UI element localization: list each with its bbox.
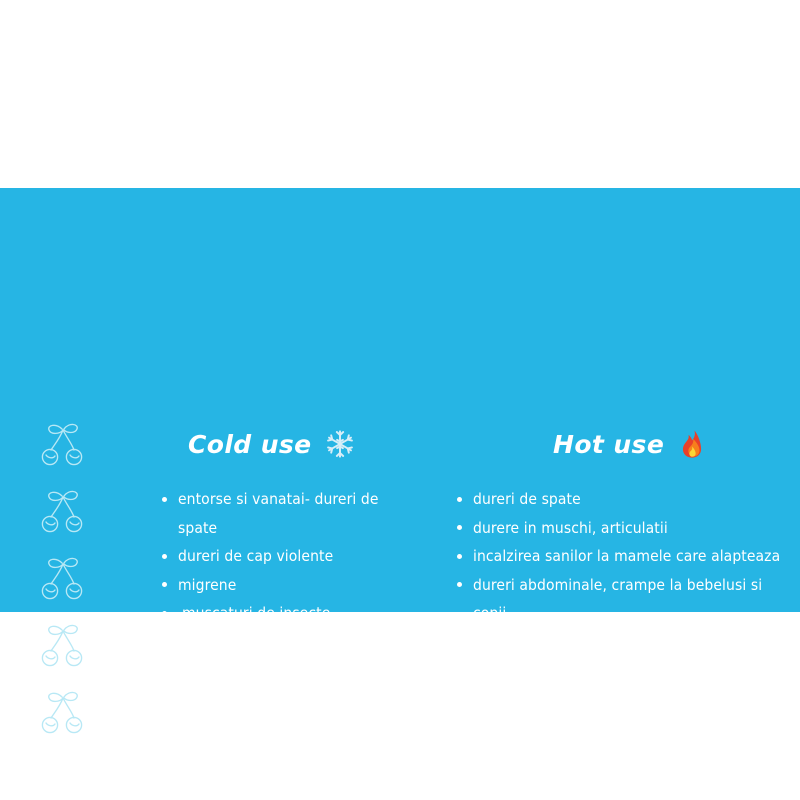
list-item-text: dureri abdominale, crampe la bebelusi si… [473,576,762,623]
list-item: entorse si vanatai- dureri de spate [160,485,420,542]
hot-use-list: dureri de spate durere in muschi, articu… [455,485,785,713]
list-item-text: durere in muschi, articulatii [473,519,668,537]
list-item-text: imbunatateste circulatia sangelui si are… [473,661,775,708]
hot-use-title: Hot use [553,430,664,459]
list-item: dureri uterine, dureri menstruale [455,628,785,657]
list-item-text: muscaturi de insecte [182,604,330,622]
cherry-decoration-column [36,420,100,736]
list-item-text: migrene [178,576,236,594]
hot-use-heading: Hot use [455,424,785,464]
cherries-outline-icon [36,420,94,468]
cold-use-column: Cold use [160,424,420,656]
list-item: dureri abdominale, crampe la bebelusi si… [455,571,785,628]
blue-banner: Cold use [0,188,800,612]
cherries-outline-icon [36,688,94,736]
list-item-text: dureri uterine, dureri menstruale [473,633,706,651]
list-item-text: dureri de cap violente [178,547,333,565]
list-item: imbunatateste circulatia sangelui si are… [455,656,785,713]
list-item-text: entorse si vanatai- dureri de spate [178,490,379,537]
list-item: muscaturi de insecte [160,599,420,628]
list-item: migrene [160,571,420,600]
infographic-page: Cold use [0,0,800,800]
list-item-text: dureri de spate [473,490,581,508]
list-item: durere in muschi, articulatii [455,514,785,543]
list-item: dureri de cap violente [160,542,420,571]
hot-use-column: Hot use dureri de spate durere in muschi… [455,424,785,713]
cold-use-title: Cold use [188,430,312,459]
list-item: incalzirea sanilor la mamele care alapte… [455,542,785,571]
list-item: usoare arsuri [160,628,420,657]
list-item: dureri de spate [455,485,785,514]
cold-use-heading: Cold use [160,424,420,464]
cherries-outline-icon [36,621,94,669]
snowflake-icon [325,428,355,460]
cherries-outline-icon [36,554,94,602]
flame-icon [677,428,707,460]
list-item-text: usoare arsuri [182,633,275,651]
cold-use-list: entorse si vanatai- dureri de spate dure… [160,485,420,656]
list-item-text: incalzirea sanilor la mamele care alapte… [473,547,780,565]
cherries-outline-icon [36,487,94,535]
